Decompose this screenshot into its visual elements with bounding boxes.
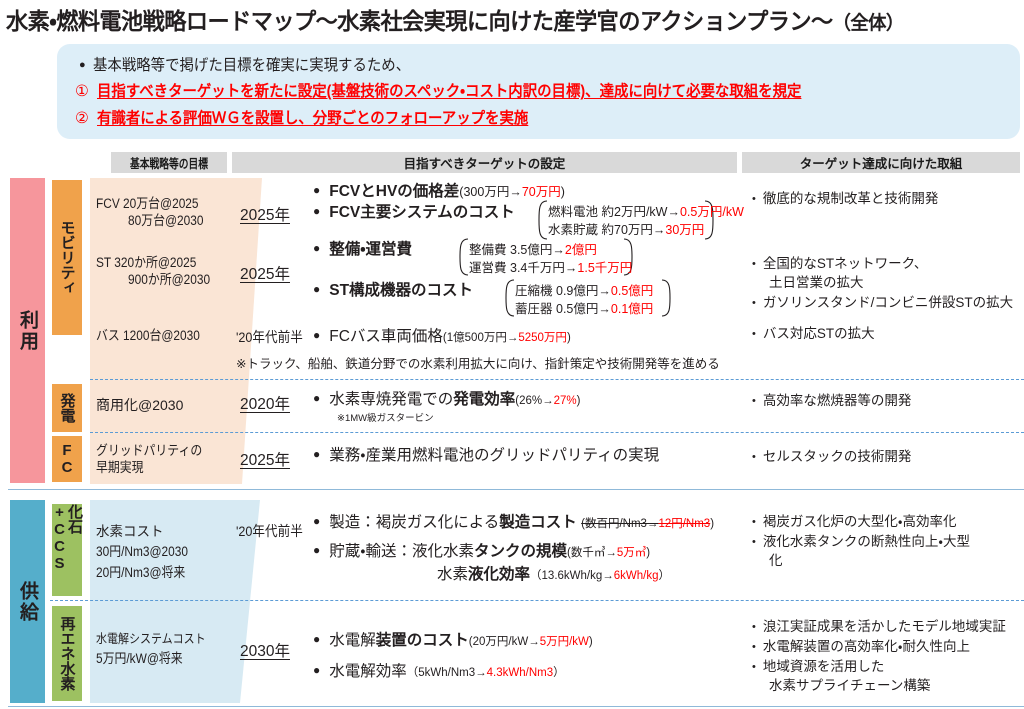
- column-header-targets: 目指すべきターゲットの設定: [232, 152, 737, 173]
- year-renewable: 2030年: [240, 639, 290, 661]
- target-st-ops: ●整備・運営費: [313, 240, 412, 261]
- action-fossil: •褐炭ガス化炉の大型化・高効率化 •液化水素タンクの断熱性向上・大型 化: [752, 513, 970, 571]
- bracket-st-equipment: [502, 279, 516, 322]
- target-fossil-tank: ●貯蔵・輸送：液化水素タンクの規模(数千㎥→5万㎥): [313, 542, 650, 563]
- page-title: 水素・燃料電池戦略ロードマップ～水素社会実現に向けた産学官のアクションプラン～（…: [6, 2, 985, 36]
- page-title-suffix: （全体）: [833, 13, 904, 34]
- goal-bus: バス 1200台@2030: [96, 328, 214, 345]
- year-st: 2025年: [240, 262, 290, 284]
- bullet-icon: ●: [313, 514, 320, 528]
- goal-st: ST 320か所@2025 900か所@2030: [96, 255, 221, 289]
- action-bus: •バス対応STの拡大: [752, 325, 875, 344]
- bullet-icon: •: [752, 536, 756, 548]
- goal-generation: 商用化@2030: [96, 397, 183, 415]
- bullet-icon: •: [752, 395, 756, 407]
- bullet-icon: ●: [313, 543, 320, 557]
- bullet-icon: •: [752, 661, 756, 673]
- goal-fc: グリッドパリティの 早期実現: [96, 443, 217, 477]
- intro-line-1: ①目指すべきターゲットを新たに設定(基盤技術のスペック・コスト内訳の目標)、達成…: [75, 79, 854, 101]
- subcategory-bar-mobility: モビリティ: [52, 180, 82, 335]
- target-st-equipment: ●ST構成機器のコスト: [313, 281, 473, 302]
- intro-number-2: ②: [75, 109, 97, 128]
- bullet-icon: ●: [313, 632, 320, 646]
- category-bar-supply: 供給: [10, 500, 45, 703]
- year-fcv: 2025年: [240, 203, 290, 225]
- intro-bullet-icon: ●: [79, 59, 86, 71]
- intro-box: ●基本戦略等で掲げた目標を確実に実現するため、 ①目指すべきターゲットを新たに設…: [57, 44, 1020, 139]
- bracket-fcv-system: [535, 200, 549, 245]
- subcategory-bar-generation: 発電: [52, 384, 82, 432]
- divider-use-supply: [8, 489, 1024, 490]
- target-st-ops-rows: 整備費 3.5億円→2億円 運営費 3.4千万円→1.5千万円: [469, 241, 632, 277]
- target-fossil-liquefaction: 水素液化効率（13.6kWh/kg→6kWh/kg）: [437, 565, 670, 586]
- bullet-icon: ●: [313, 328, 320, 342]
- category-bar-use: 利用: [10, 178, 45, 483]
- action-fc: •セルスタックの技術開発: [752, 448, 911, 467]
- divider-mobility-generation: [90, 379, 1024, 380]
- target-fcv-system: ●FCV主要システムのコスト: [313, 203, 515, 224]
- year-bus: '20年代前半: [236, 327, 310, 347]
- bullet-icon: ●: [313, 241, 320, 255]
- intro-line-1-text: 目指すべきターゲットを新たに設定(基盤技術のスペック・コスト内訳の目標)、達成に…: [97, 79, 801, 101]
- intro-number-1: ①: [75, 82, 97, 101]
- subcategory-bar-fc: FC: [52, 436, 82, 482]
- intro-line-0-text: 基本戦略等で掲げた目標を確実に実現するため、: [93, 53, 410, 75]
- bullet-icon: ●: [313, 204, 320, 218]
- target-electrolysis-efficiency: ●水電解効率（5kWh/Nm3→4.3kWh/Nm3）: [313, 662, 565, 683]
- goal-electrolysis-cost: 水電解システムコスト 5万円/kW@将来: [96, 629, 221, 670]
- bracket-st-ops: [456, 238, 470, 281]
- bullet-icon: •: [752, 193, 756, 205]
- mobility-footnote: ※トラック、船舶、鉄道分野での水素利用拡大に向け、指針策定や技術開発等を進める: [236, 353, 720, 372]
- bracket-st-equipment-right: [660, 279, 674, 322]
- bullet-icon: •: [752, 297, 756, 309]
- target-fossil-manufacturing: ●製造：褐炭ガス化による製造コスト (数百円/Nm3→12円/Nm3): [313, 513, 714, 534]
- year-fossil: '20年代前半: [236, 521, 310, 541]
- action-renewable: •浪江実証成果を活かしたモデル地域実証 •水電解装置の高効率化・耐久性向上 •地…: [752, 618, 1006, 696]
- bullet-icon: ●: [313, 282, 320, 296]
- column-header-goals: 基本戦略等の目標: [111, 152, 227, 173]
- target-fcv-system-rows: 燃料電池 約2万円/kW→0.5万円/kW 水素貯蔵 約70万円→30万円: [548, 203, 744, 239]
- year-generation: 2020年: [240, 392, 290, 414]
- target-fc-bus: ●FCバス車両価格(1億500万円→5250万円): [313, 327, 571, 348]
- goal-hydrogen-cost: 水素コスト 30円/Nm3@2030 20円/Nm3@将来: [96, 522, 201, 583]
- divider-bottom: [8, 706, 1024, 707]
- target-electrolyzer-cost: ●水電解装置のコスト(20万円/kW→5万円/kW): [313, 631, 593, 652]
- roadmap-slide: 水素・燃料電池戦略ロードマップ～水素社会実現に向けた産学官のアクションプラン～（…: [0, 0, 1024, 709]
- action-st: •全国的なSTネットワーク、 土日営業の拡大 •ガソリンスタンド/コンビニ併設S…: [752, 255, 1013, 313]
- goal-fcv: FCV 20万台@2025 80万台@2030: [96, 196, 214, 230]
- page-title-main: 水素・燃料電池戦略ロードマップ～水素社会実現に向けた産学官のアクションプラン～: [6, 8, 833, 34]
- action-fcv: •徹底的な規制改革と技術開発: [752, 190, 938, 209]
- bullet-icon: •: [752, 516, 756, 528]
- bullet-icon: •: [752, 451, 756, 463]
- divider-fossil-renewable: [50, 600, 1024, 601]
- subcategory-bar-renewable: 再エネ水素: [52, 606, 82, 701]
- bullet-icon: •: [752, 258, 756, 270]
- year-fc: 2025年: [240, 448, 290, 470]
- bullet-icon: ●: [313, 183, 320, 197]
- action-generation: •高効率な燃焼器等の開発: [752, 392, 911, 411]
- bullet-icon: ●: [313, 663, 320, 677]
- bullet-icon: ●: [313, 391, 320, 405]
- intro-line-2: ②有識者による評価ＷＧを設置し、分野ごとのフォローアップを実施: [75, 106, 561, 128]
- divider-generation-fc: [90, 432, 1024, 433]
- column-header-actions: ターゲット達成に向けた取組: [742, 152, 1020, 173]
- bullet-icon: •: [752, 621, 756, 633]
- target-fc-grid-parity: ●業務・産業用燃料電池のグリッドパリティの実現: [313, 446, 659, 467]
- bullet-icon: •: [752, 328, 756, 340]
- generation-footnote: ※1MW級ガスタービン: [337, 410, 434, 424]
- intro-line-0: ●基本戦略等で掲げた目標を確実に実現するため、: [79, 53, 434, 75]
- bullet-icon: •: [752, 641, 756, 653]
- target-st-equipment-rows: 圧縮機 0.9億円→0.5億円 蓄圧器 0.5億円→0.1億円: [515, 282, 653, 318]
- subcategory-bar-fossil-ccs: 化石+CCS: [52, 504, 82, 596]
- target-fcv-price: ●FCVとHVの価格差(300万円→70万円): [313, 182, 565, 203]
- bullet-icon: ●: [313, 447, 320, 461]
- target-generation-efficiency: ●水素専焼発電での発電効率(26%→27%): [313, 390, 581, 411]
- intro-line-2-text: 有識者による評価ＷＧを設置し、分野ごとのフォローアップを実施: [97, 106, 528, 128]
